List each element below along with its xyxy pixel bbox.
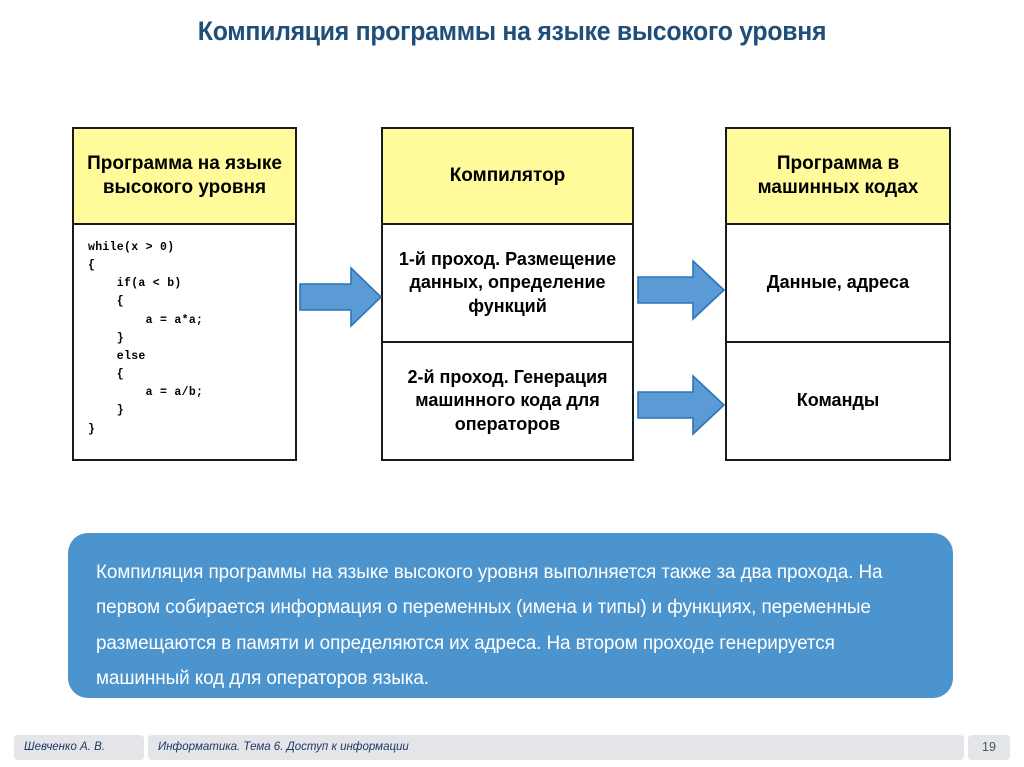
summary-callout-text: Компиляция программы на языке высокого у… [96, 555, 900, 697]
source-code-text: while(x > 0) { if(a < b) { a = a*a; } el… [88, 239, 295, 439]
machine-code-header: Программа в машинных кодах [727, 129, 949, 225]
source-program-header: Программа на языке высокого уровня [74, 129, 295, 225]
compiler-header: Компилятор [383, 129, 632, 225]
arrow-compiler-pass1-to-data [637, 258, 726, 322]
machine-code-box: Программа в машинных кодах Данные, адрес… [725, 127, 951, 461]
arrow-source-to-compiler [299, 265, 383, 329]
compiler-pass-1-cell: 1-й проход. Размещение данных, определен… [383, 225, 632, 343]
source-code-area: while(x > 0) { if(a < b) { a = a*a; } el… [74, 225, 295, 459]
arrow-compiler-pass2-to-commands [637, 373, 726, 437]
summary-callout: Компиляция программы на языке высокого у… [68, 533, 953, 698]
footer-author: Шевченко А. В. [14, 735, 144, 760]
source-program-box: Программа на языке высокого уровня while… [72, 127, 297, 461]
footer-bar: Шевченко А. В. Информатика. Тема 6. Дост… [0, 727, 1024, 767]
machine-commands-cell: Команды [727, 343, 949, 459]
page-title: Компиляция программы на языке высокого у… [41, 16, 983, 47]
machine-data-cell: Данные, адреса [727, 225, 949, 343]
compiler-box: Компилятор 1-й проход. Размещение данных… [381, 127, 634, 461]
compiler-pass-2-cell: 2-й проход. Генерация машинного кода для… [383, 343, 632, 459]
footer-page-number: 19 [968, 735, 1010, 760]
footer-topic: Информатика. Тема 6. Доступ к информации [148, 735, 964, 760]
